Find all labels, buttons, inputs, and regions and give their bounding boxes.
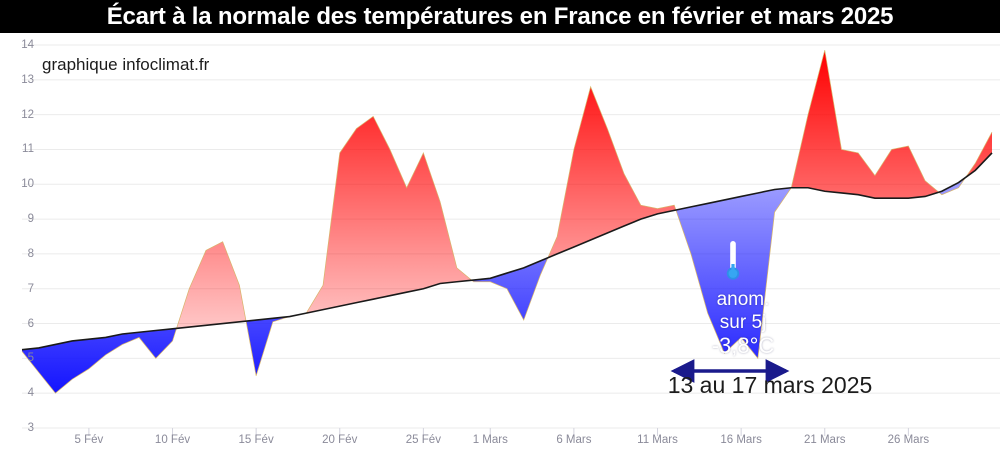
y-axis-tick: 11 [4,143,34,155]
page-title: Écart à la normale des températures en F… [107,5,894,29]
anomaly-annotation: anom. sur 5j -3,8°C [697,288,789,357]
date-range-label: 13 au 17 mars 2025 [640,372,900,399]
y-axis-tick: 5 [4,352,34,364]
anomaly-bands [22,50,992,393]
x-axis-tick: 11 Mars [637,434,678,446]
x-axis-tick: 6 Mars [556,434,591,446]
x-axis-tick: 21 Mars [804,434,846,446]
x-axis-tick: 15 Fév [239,434,274,446]
x-axis-tick: 26 Mars [888,434,930,446]
anomaly-line-1: anom. [697,288,789,311]
anomaly-line-2: sur 5j [697,311,789,334]
y-axis: 34567891011121314 [0,33,34,461]
y-axis-tick: 14 [4,39,34,51]
y-axis-tick: 13 [4,74,34,86]
y-axis-tick: 7 [4,283,34,295]
chart-title-bar: Écart à la normale des températures en F… [0,0,1000,33]
thermometer-icon [723,240,743,288]
x-axis-tick: 5 Fév [75,434,104,446]
anomaly-value: -3,8°C [697,334,789,357]
x-axis-tick: 16 Mars [720,434,762,446]
plot-area: graphique infoclimat.fr anom. sur 5j -3,… [0,33,1000,461]
x-axis-tick: 25 Fév [406,434,441,446]
y-axis-tick: 10 [4,178,34,190]
chart-page: Écart à la normale des températures en F… [0,0,1000,461]
y-axis-tick: 9 [4,213,34,225]
y-axis-tick: 6 [4,318,34,330]
y-axis-tick: 8 [4,248,34,260]
x-axis-tick: 1 Mars [473,434,508,446]
gridlines [22,45,1000,428]
y-axis-tick: 12 [4,109,34,121]
x-axis: 5 Fév10 Fév15 Fév20 Fév25 Fév1 Mars6 Mar… [0,430,1000,461]
chart-credit: graphique infoclimat.fr [42,55,209,75]
x-axis-tick: 10 Fév [155,434,190,446]
y-axis-tick: 4 [4,387,34,399]
negative-anomaly-area [22,50,992,393]
x-axis-tick: 20 Fév [322,434,357,446]
